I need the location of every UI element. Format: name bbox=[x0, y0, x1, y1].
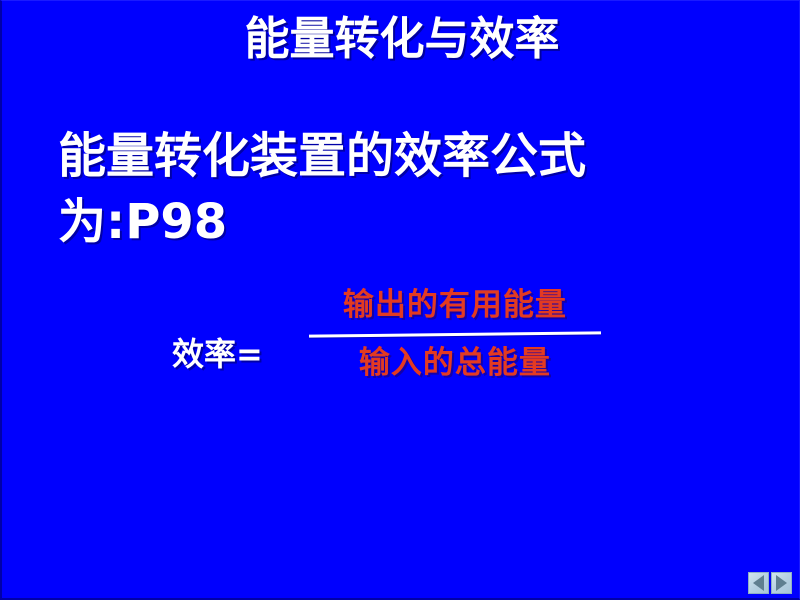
slide-body-text: 能量转化装置的效率公式 为:P98 bbox=[58, 123, 738, 255]
efficiency-label: 效率= bbox=[172, 334, 263, 374]
slide-title: 能量转化与效率 bbox=[2, 12, 800, 66]
triangle-left-icon bbox=[753, 575, 764, 591]
fraction-denominator: 输入的总能量 bbox=[305, 341, 605, 385]
body-line-1: 能量转化装置的效率公式 bbox=[58, 123, 738, 189]
triangle-right-icon bbox=[776, 575, 787, 591]
presentation-slide: 能量转化与效率 能量转化装置的效率公式 为:P98 效率= 输出的有用能量 输入… bbox=[0, 0, 800, 600]
next-slide-button[interactable] bbox=[771, 572, 792, 594]
previous-slide-button[interactable] bbox=[748, 572, 769, 594]
efficiency-formula: 效率= 输出的有用能量 输入的总能量 bbox=[172, 283, 605, 385]
fraction-bar bbox=[309, 331, 601, 337]
body-line-2: 为:P98 bbox=[58, 189, 738, 255]
fraction: 输出的有用能量 输入的总能量 bbox=[305, 283, 605, 385]
fraction-numerator: 输出的有用能量 bbox=[305, 283, 605, 327]
slide-navigation bbox=[748, 572, 792, 594]
